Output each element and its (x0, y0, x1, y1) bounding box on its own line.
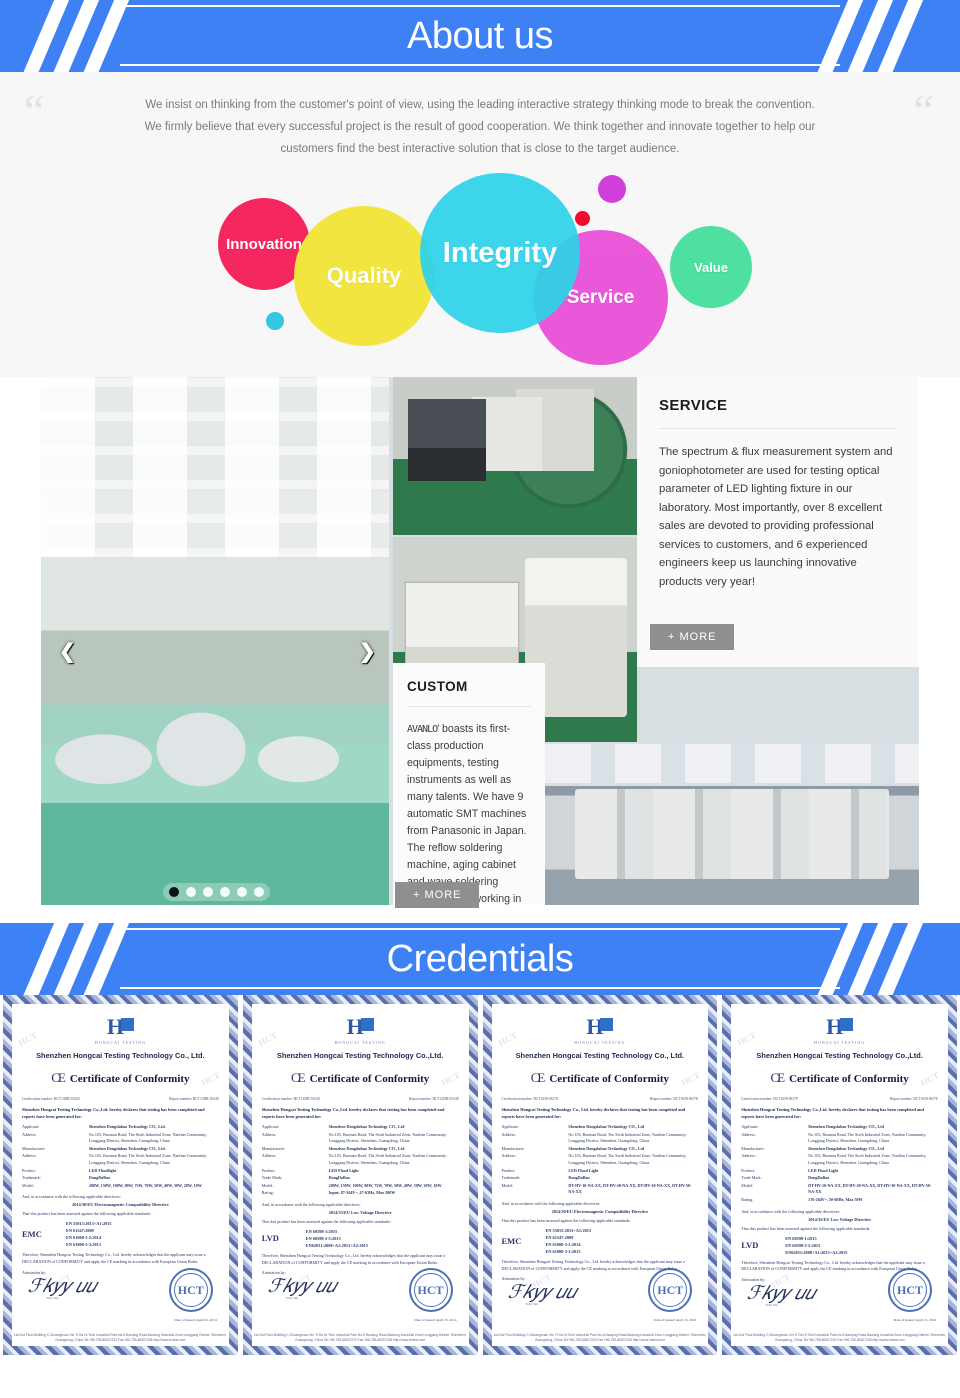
bubble-quality: Quality (294, 206, 434, 346)
table-row: Address:No.103, Baoman Road, The Sixth I… (502, 1153, 699, 1167)
row-key: Manufacturer: (262, 1146, 329, 1154)
custom-body-text: boasts its first-class production equipm… (407, 723, 527, 905)
carousel-prev-icon[interactable]: ❮ (59, 642, 76, 662)
table-row: Address:No.103, Baoman Road, The Sixth I… (502, 1132, 699, 1146)
row-key: Address: (502, 1132, 569, 1146)
credentials-banner: Credentials (0, 923, 960, 995)
row-key: Rating: (741, 1197, 808, 1205)
bubble-value-label: Value (694, 260, 728, 275)
standard-item: EN 60598-1:2015 (785, 1235, 847, 1242)
about-us-title: About us (0, 17, 960, 55)
standard-label: LVD (741, 1240, 775, 1250)
standards-row: EMC EN 55015:2013+A1:2015 EN 61547:2009 … (22, 1220, 219, 1248)
standard-item: EN 60598-2-5:2015 (306, 1235, 368, 1242)
row-value: No.103, Baoman Road, The Sixth Industria… (568, 1153, 698, 1167)
table-row: Trademark:DongDaBao (22, 1175, 219, 1183)
table-row: Address:No.103, Baoman Road, The Sixth I… (741, 1132, 938, 1146)
certificate-assessed: That this product has been assessed agai… (741, 1225, 938, 1232)
hct-stamp-icon: HCT (888, 1268, 932, 1312)
standard-list: EN 55015:2013+A1:2013 EN 61547:2009 EN 6… (546, 1227, 592, 1255)
certificate-title-row: CECertificate of Conformity (502, 1069, 699, 1087)
about-us-banner: About us (0, 0, 960, 72)
certificate-directive: 2014/35/EU Low Voltage Directive (741, 1217, 938, 1222)
table-row: Address:No.103, Baoman Road, The Sixth I… (22, 1153, 219, 1167)
hct-stamp-icon: HCT (409, 1268, 453, 1312)
table-row: Address:No.103, Baoman Road, The Sixth I… (741, 1153, 938, 1167)
row-value: Shenzhen Dongslabao Technology CO., Ltd (329, 1146, 459, 1154)
about-intro-section: “ “ We insist on thinking from the custo… (0, 72, 960, 377)
custom-more-button[interactable]: + MORE (395, 882, 479, 908)
standard-item: EN 61547:2009 (66, 1227, 112, 1234)
certificate-address: 1st-2nd Floor,Building C,Shuanghuan Xin … (731, 1333, 948, 1343)
table-row: Rating:Input: 87-264V~, 47-63Hz, Max 200… (262, 1190, 459, 1198)
table-row: Rating:176-264V~, 50-60Hz, Max 50W (741, 1197, 938, 1205)
carousel-dots[interactable] (163, 883, 270, 901)
table-row: Product:LED Flood Light (741, 1168, 938, 1176)
photo-integrating-sphere-lab (393, 377, 637, 535)
bubble-innovation-label: Innovation (226, 236, 302, 253)
bubble-quality-label: Quality (327, 263, 402, 289)
carousel-next-icon[interactable]: ❯ (359, 642, 376, 662)
row-value: DT-HV-10-NA-XX, DT-HV-20-NA-XX, DT-HV-30… (808, 1183, 938, 1197)
red-dot-icon (575, 211, 590, 226)
row-key: Trade Mark: (262, 1175, 329, 1183)
table-row: Trade Mark:DongDaBao (741, 1175, 938, 1183)
row-key: Trade Mark: (741, 1175, 808, 1183)
certificate-numbers: Certification number: HCT1658-0617E Repo… (502, 1097, 699, 1101)
table-row: Address:No.103, Baoman Road, The Sixth I… (22, 1132, 219, 1146)
standard-item: EN 60598-2-5:2015 (785, 1242, 847, 1249)
row-value: DongDaBao (89, 1175, 219, 1183)
hct-stamp-icon: HCT (648, 1268, 692, 1312)
table-row: Manufacturer:Shenzhen Dongslabao Technol… (22, 1146, 219, 1154)
certificate-title: Certificate of Conformity (70, 1073, 190, 1085)
custom-heading: CUSTOM (407, 679, 531, 694)
table-row: Manufacturer:Shenzhen Dongslabao Technol… (741, 1146, 938, 1154)
row-value: Shenzhen Dongslabao Technology CO., Ltd (568, 1124, 698, 1132)
standard-list: EN 60598-1:2015 EN 60598-2-5:2015 EN6203… (306, 1228, 368, 1249)
certificate-numbers: Certification number: HCT1658-0617F Repo… (741, 1097, 938, 1101)
certificate-card[interactable]: HCT HCT HCT H HONGCAI TESTING Shenzhen H… (483, 995, 718, 1355)
intro-line-3: customers find the best interactive solu… (110, 138, 850, 160)
row-key: Model: (22, 1183, 89, 1191)
hct-logo-subtext: HONGCAI TESTING (502, 1040, 699, 1045)
certificate-directive: 2014/30/EU Electromagnetic Compatibility… (22, 1202, 219, 1207)
table-row: Applicant:Shenzhen Dongslabao Technology… (741, 1124, 938, 1132)
certification-number: Certification number: HCT14DR-03340 (22, 1097, 80, 1101)
service-body: The spectrum & flux measurement system a… (659, 443, 897, 591)
hct-logo-square-icon (840, 1018, 853, 1031)
photo-production-line (41, 377, 389, 905)
table-row: Product:LED Floodlight (22, 1168, 219, 1176)
table-row: Model:200W, 150W, 100W, 80W, 75W, 70W, 5… (22, 1183, 219, 1191)
certification-number: Certification number: HCT14DR-03348 (262, 1097, 320, 1101)
certificate-footer: Therefore, Shenzhen Hongcai Testing Tech… (262, 1253, 459, 1266)
certificate-declaration: Shenzhen Hongcai Testing Technology Co.,… (502, 1106, 699, 1120)
row-key: Address: (741, 1132, 808, 1146)
row-value: No.103, Baoman Road, The Sixth Industria… (89, 1153, 219, 1167)
certification-number: Certification number: HCT1658-0617F (741, 1097, 798, 1101)
standard-item: EN 61000-3-3:2013 (66, 1241, 112, 1248)
certificate-declaration: Shenzhen Hongcai Testing Technology Co.,… (262, 1106, 459, 1120)
quote-open-icon: “ (24, 88, 46, 134)
purple-dot-icon (598, 175, 626, 203)
row-value: Input: 87-264V~, 47-63Hz, Max 200W (329, 1190, 459, 1198)
table-row: Model:DT-HV-10-NA-XX, DT-HV-20-NA-XX, DT… (502, 1183, 699, 1197)
standards-row: EMC EN 55015:2013+A1:2013 EN 61547:2009 … (502, 1227, 699, 1255)
hct-logo-square-icon (361, 1018, 374, 1031)
bubble-integrity-label: Integrity (443, 237, 557, 270)
certificate-accordance: And, in accordance with the following ap… (741, 1208, 938, 1215)
row-value: DongDaBao (568, 1175, 698, 1183)
credentials-rule-bottom (120, 987, 840, 989)
table-row: Manufacturer:Shenzhen Dongslabao Technol… (262, 1146, 459, 1154)
issue-date: Date of Issued: April 25, 2014 (174, 1318, 216, 1322)
standard-item: EN 61000-3-2:2014 (66, 1234, 112, 1241)
row-key: Trademark: (22, 1175, 89, 1183)
row-value: Shenzhen Dongslabao Technology CO., Ltd (808, 1146, 938, 1154)
row-value: 176-264V~, 50-60Hz, Max 50W (808, 1197, 938, 1205)
row-value: LED Floodlight (89, 1168, 219, 1176)
certificate-company: Shenzhen Hongcai Testing Technology Co.,… (502, 1051, 699, 1060)
certificate-address: 1st-2nd Floor,Building C,Shuanghuan Xin … (252, 1333, 469, 1343)
row-value: LED Flood Light (568, 1168, 698, 1176)
hct-logo-subtext: HONGCAI TESTING (22, 1040, 219, 1045)
row-value: Shenzhen Dongslabao Technology CO., Ltd. (89, 1146, 219, 1154)
ce-mark-icon: CE (51, 1070, 64, 1085)
row-key: Rating: (262, 1190, 329, 1198)
standard-item: EN 55015:2013+A1:2013 (546, 1227, 592, 1234)
report-number: Report number: HCT1658-0617E (650, 1097, 699, 1101)
section-spacer (0, 905, 960, 923)
certificate-card[interactable]: HCT HCT HCT H HONGCAI TESTING Shenzhen H… (722, 995, 957, 1355)
row-value: LED Flood Light (329, 1168, 459, 1176)
ce-mark-icon: CE (770, 1070, 783, 1085)
hct-logo: H HONGCAI TESTING (22, 1016, 219, 1045)
certificate-directive: 2014/30/EU Electromagnetic Compatibility… (502, 1209, 699, 1214)
certificate-card[interactable]: HCT HCT HCT H HONGCAI TESTING Shenzhen H… (243, 995, 478, 1355)
hct-stamp-icon: HCT (169, 1268, 213, 1312)
table-row: Product:LED Flood Light (502, 1168, 699, 1176)
row-value: LED Flood Light (808, 1168, 938, 1176)
row-key: Manufacturer: (22, 1146, 89, 1154)
row-key: Applicant: (741, 1124, 808, 1132)
bubble-integrity: Integrity (420, 173, 580, 333)
row-value: Shenzhen Dongslabao Technology CO., Ltd (808, 1124, 938, 1132)
carousel-dot-3[interactable] (203, 887, 213, 897)
custom-card: CUSTOM AVANLO’ boasts its first-class pr… (393, 663, 545, 905)
row-key: Model: (262, 1183, 329, 1191)
credentials-title: Credentials (0, 940, 960, 978)
carousel-dot-2[interactable] (186, 887, 196, 897)
certificate-assessed: That this product has been assessed agai… (262, 1218, 459, 1225)
row-key: Address: (262, 1153, 329, 1167)
credentials-rule-top (120, 928, 840, 930)
carousel-dot-5[interactable] (237, 887, 247, 897)
row-value: No.103, Baoman Road, The Sixth Industria… (808, 1132, 938, 1146)
service-heading: SERVICE (659, 397, 897, 414)
certificate-details-table: Applicant:Shenzhen Dongslabao Technology… (741, 1124, 938, 1205)
certificate-company: Shenzhen Hongcai Testing Technology Co.,… (262, 1051, 459, 1060)
certificate-address: 1st-2nd Floor,Building C,Shuanghuan Xin … (12, 1333, 229, 1343)
certificate-declaration: Shenzhen Hongcai Testing Technology Co.,… (22, 1106, 219, 1120)
standards-row: LVD EN 60598-1:2015 EN 60598-2-5:2015 EN… (741, 1235, 938, 1256)
cyan-dot-icon (266, 312, 284, 330)
banner-rule-top (120, 5, 840, 7)
standard-label: EMC (22, 1229, 56, 1239)
certificate-declaration: Shenzhen Hongcai Testing Technology Co.,… (741, 1106, 938, 1120)
standard-item: EN 55015:2013+A1:2015 (66, 1220, 112, 1227)
certificate-title-row: CECertificate of Conformity (741, 1069, 938, 1087)
hct-logo: H HONGCAI TESTING (502, 1016, 699, 1045)
table-row: Applicant:Shenzhen Dongslabao Technology… (502, 1124, 699, 1132)
table-row: Address:No.103, Baoman Road, The Sixth I… (262, 1132, 459, 1146)
row-key: Address: (22, 1132, 89, 1146)
standard-label: EMC (502, 1236, 536, 1246)
report-number: Report number: HCT14DR-03340 (169, 1097, 219, 1101)
report-number: Report number: HCT14DR-03348 (409, 1097, 459, 1101)
certificate-details-table: Applicant:Shenzhen Dongslabao Technology… (502, 1124, 699, 1197)
certificate-details-table: Applicant:Shenzhen Dongslabao Technology… (22, 1124, 219, 1190)
row-value: No.103, Baoman Road, The Sixth Industria… (808, 1153, 938, 1167)
ce-mark-icon: CE (291, 1070, 304, 1085)
table-row: Model:200W, 150W, 100W, 80W, 75W, 70W, 5… (262, 1183, 459, 1191)
intro-line-2: We firmly believe that every successful … (110, 116, 850, 138)
certificate-company: Shenzhen Hongcai Testing Technology Co.,… (22, 1051, 219, 1060)
row-value: 200W, 150W, 100W, 80W, 75W, 70W, 50W, 40… (329, 1183, 459, 1191)
issue-date: Date of issued: April 25, 2014 (414, 1318, 456, 1322)
values-bubble-graphic: Innovation Quality Service Integrity Val… (180, 168, 780, 368)
issue-date: Date of Issued: April 15, 2016 (654, 1318, 696, 1322)
hct-logo-subtext: HONGCAI TESTING (262, 1040, 459, 1045)
row-value: Shenzhen Dongslabao Technology CO., Ltd (568, 1146, 698, 1154)
certification-number: Certification number: HCT1658-0617E (502, 1097, 559, 1101)
row-key: Product: (22, 1168, 89, 1176)
row-key: Address: (741, 1153, 808, 1167)
avanlo-brand-mark: AVANLO (407, 724, 437, 735)
row-value: Shenzhen Dongslabao Technology CO., Ltd (329, 1124, 459, 1132)
standard-item: EN 61547:2009 (546, 1234, 592, 1241)
standard-list: EN 60598-1:2015 EN 60598-2-5:2015 EN6203… (785, 1235, 847, 1256)
table-row: Trade Mark:DongDaBao (262, 1175, 459, 1183)
row-key: Applicant: (262, 1124, 329, 1132)
intro-paragraph: We insist on thinking from the customer'… (110, 94, 850, 160)
row-value: No.103, Baoman Road, The Sixth Industria… (329, 1153, 459, 1167)
quote-close-icon: “ (914, 88, 936, 134)
row-value: DongDaBao (808, 1175, 938, 1183)
table-row: Manufacturer:Shenzhen Dongslabao Technol… (502, 1146, 699, 1154)
photo-smt-workshop (545, 744, 919, 905)
row-value: Shenzhen Dongslabao Technology CO., Ltd. (89, 1124, 219, 1132)
row-key: Product: (262, 1168, 329, 1176)
certificate-title: Certificate of Conformity (789, 1073, 909, 1085)
carousel-dot-1[interactable] (169, 887, 179, 897)
row-key: Address: (262, 1132, 329, 1146)
hct-logo-square-icon (600, 1018, 613, 1031)
standards-row: LVD EN 60598-1:2015 EN 60598-2-5:2015 EN… (262, 1228, 459, 1249)
certificate-card[interactable]: HCT HCT HCT H HONGCAI TESTING Shenzhen H… (3, 995, 238, 1355)
report-number: Report number: HCT1658-0617F (890, 1097, 938, 1101)
certificate-assessed: That this product has been assessed agai… (22, 1210, 219, 1217)
hct-logo: H HONGCAI TESTING (741, 1016, 938, 1045)
hct-logo: H HONGCAI TESTING (262, 1016, 459, 1045)
certificate-title: Certificate of Conformity (549, 1073, 669, 1085)
table-row: Applicant:Shenzhen Dongslabao Technology… (262, 1124, 459, 1132)
row-key: Address: (22, 1153, 89, 1167)
table-row: Product:LED Flood Light (262, 1168, 459, 1176)
row-value: DongDaBao (329, 1175, 459, 1183)
bubble-value: Value (670, 226, 752, 308)
certificate-company: Shenzhen Hongcai Testing Technology Co.,… (741, 1051, 938, 1060)
custom-body: AVANLO’ boasts its first-class productio… (407, 721, 531, 905)
row-key: Product: (741, 1168, 808, 1176)
certificate-directive: 2014/35/EU Low Voltage Directive (262, 1210, 459, 1215)
certificate-accordance: And, in accordance with the following ap… (262, 1201, 459, 1208)
table-row: Applicant:Shenzhen Dongslabao Technology… (22, 1124, 219, 1132)
table-row: Address:No.103, Baoman Road, The Sixth I… (262, 1153, 459, 1167)
row-value: No.103, Baoman Road, The Sixth Industria… (89, 1132, 219, 1146)
certificate-accordance: And, in accordance with the following ap… (502, 1200, 699, 1207)
row-value: No.103, Baoman Road, The Sixth Industria… (329, 1132, 459, 1146)
certificate-accordance: And, in accordance with the following ap… (22, 1193, 219, 1200)
certificate-assessed: That this product has been assessed agai… (502, 1217, 699, 1224)
standard-label: LVD (262, 1233, 296, 1243)
row-key: Manufacturer: (502, 1146, 569, 1154)
certificate-numbers: Certification number: HCT14DR-03340 Repo… (22, 1097, 219, 1101)
row-key: Address: (502, 1153, 569, 1167)
intro-line-1: We insist on thinking from the customer'… (110, 94, 850, 116)
standard-item: EN 61000-3-3:2013 (546, 1248, 592, 1255)
banner-rule-bottom (120, 64, 840, 66)
row-key: Applicant: (22, 1124, 89, 1132)
about-photo-carousel[interactable]: SERVICE The spectrum & flux measurement … (41, 377, 919, 905)
standard-item: EN 61000-3-2:2014 (546, 1241, 592, 1248)
certificate-footer: Therefore, Shenzhen Hongcai Testing Tech… (22, 1252, 219, 1265)
row-value: 200W, 150W, 100W, 80W, 75W, 70W, 50W, 40… (89, 1183, 219, 1191)
certificates-gallery: HCT HCT HCT H HONGCAI TESTING Shenzhen H… (0, 995, 960, 1355)
standard-item: EN62031:2008+A1:2013+A2:2015 (785, 1249, 847, 1256)
row-key: Model: (502, 1183, 569, 1197)
row-key: Model: (741, 1183, 808, 1197)
table-row: Trademark:DongDaBao (502, 1175, 699, 1183)
row-value: DT-HV-10-NA-XX, DT-HV-20-NA-XX, DT-HV-30… (568, 1183, 698, 1197)
ce-mark-icon: CE (531, 1070, 544, 1085)
table-row: Model:DT-HV-10-NA-XX, DT-HV-20-NA-XX, DT… (741, 1183, 938, 1197)
custom-divider (407, 706, 531, 707)
row-key: Trademark: (502, 1175, 569, 1183)
certificate-details-table: Applicant:Shenzhen Dongslabao Technology… (262, 1124, 459, 1198)
carousel-dot-4[interactable] (220, 887, 230, 897)
row-value: No.103, Baoman Road, The Sixth Industria… (568, 1132, 698, 1146)
issue-date: Date of Issued: April 15, 2016 (894, 1318, 936, 1322)
row-key: Product: (502, 1168, 569, 1176)
carousel-dot-6[interactable] (254, 887, 264, 897)
service-more-button[interactable]: + MORE (650, 624, 734, 650)
certificate-address: 1st-2nd Floor,Building C,Shuanghuan Xin … (492, 1333, 709, 1343)
bubble-service-label: Service (567, 287, 635, 309)
certificate-title-row: CECertificate of Conformity (262, 1069, 459, 1087)
certificate-title: Certificate of Conformity (310, 1073, 430, 1085)
certificate-numbers: Certification number: HCT14DR-03348 Repo… (262, 1097, 459, 1101)
standard-item: EN 60598-1:2015 (306, 1228, 368, 1235)
service-divider (659, 428, 897, 429)
standard-list: EN 55015:2013+A1:2015 EN 61547:2009 EN 6… (66, 1220, 112, 1248)
hct-logo-square-icon (121, 1018, 134, 1031)
hct-logo-subtext: HONGCAI TESTING (741, 1040, 938, 1045)
row-key: Manufacturer: (741, 1146, 808, 1154)
standard-item: EN62031:2008+A1:2013+A2:2015 (306, 1242, 368, 1249)
certificate-title-row: CECertificate of Conformity (22, 1069, 219, 1087)
row-key: Applicant: (502, 1124, 569, 1132)
